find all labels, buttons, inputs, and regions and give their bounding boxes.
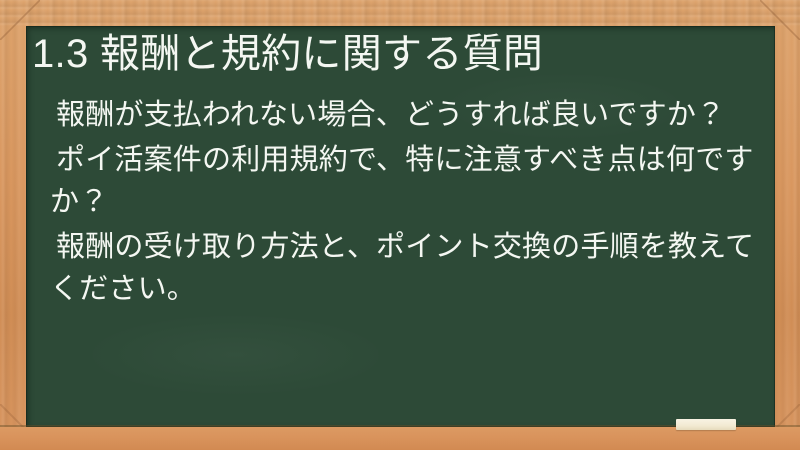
list-item: 報酬の受け取り方法と、ポイント交換の手順を教えてください。 (50, 226, 762, 310)
list-item: ポイ活案件の利用規約で、特に注意すべき点は何ですか？ (50, 139, 762, 223)
chalkboard-surface: 1.3 報酬と規約に関する質問 報酬が支払われない場合、どうすれば良いですか？ … (26, 26, 775, 427)
frame-top-wood-grain (0, 0, 800, 26)
chalk-stick (676, 419, 736, 430)
chalkboard-slide: 1.3 報酬と規約に関する質問 報酬が支払われない場合、どうすれば良いですか？ … (0, 0, 800, 450)
list-item: 報酬が支払われない場合、どうすれば良いですか？ (50, 94, 762, 136)
slide-title: 1.3 報酬と規約に関する質問 (32, 30, 767, 79)
chalk-tray (0, 427, 800, 450)
question-list: 報酬が支払われない場合、どうすれば良いですか？ ポイ活案件の利用規約で、特に注意… (50, 94, 762, 313)
